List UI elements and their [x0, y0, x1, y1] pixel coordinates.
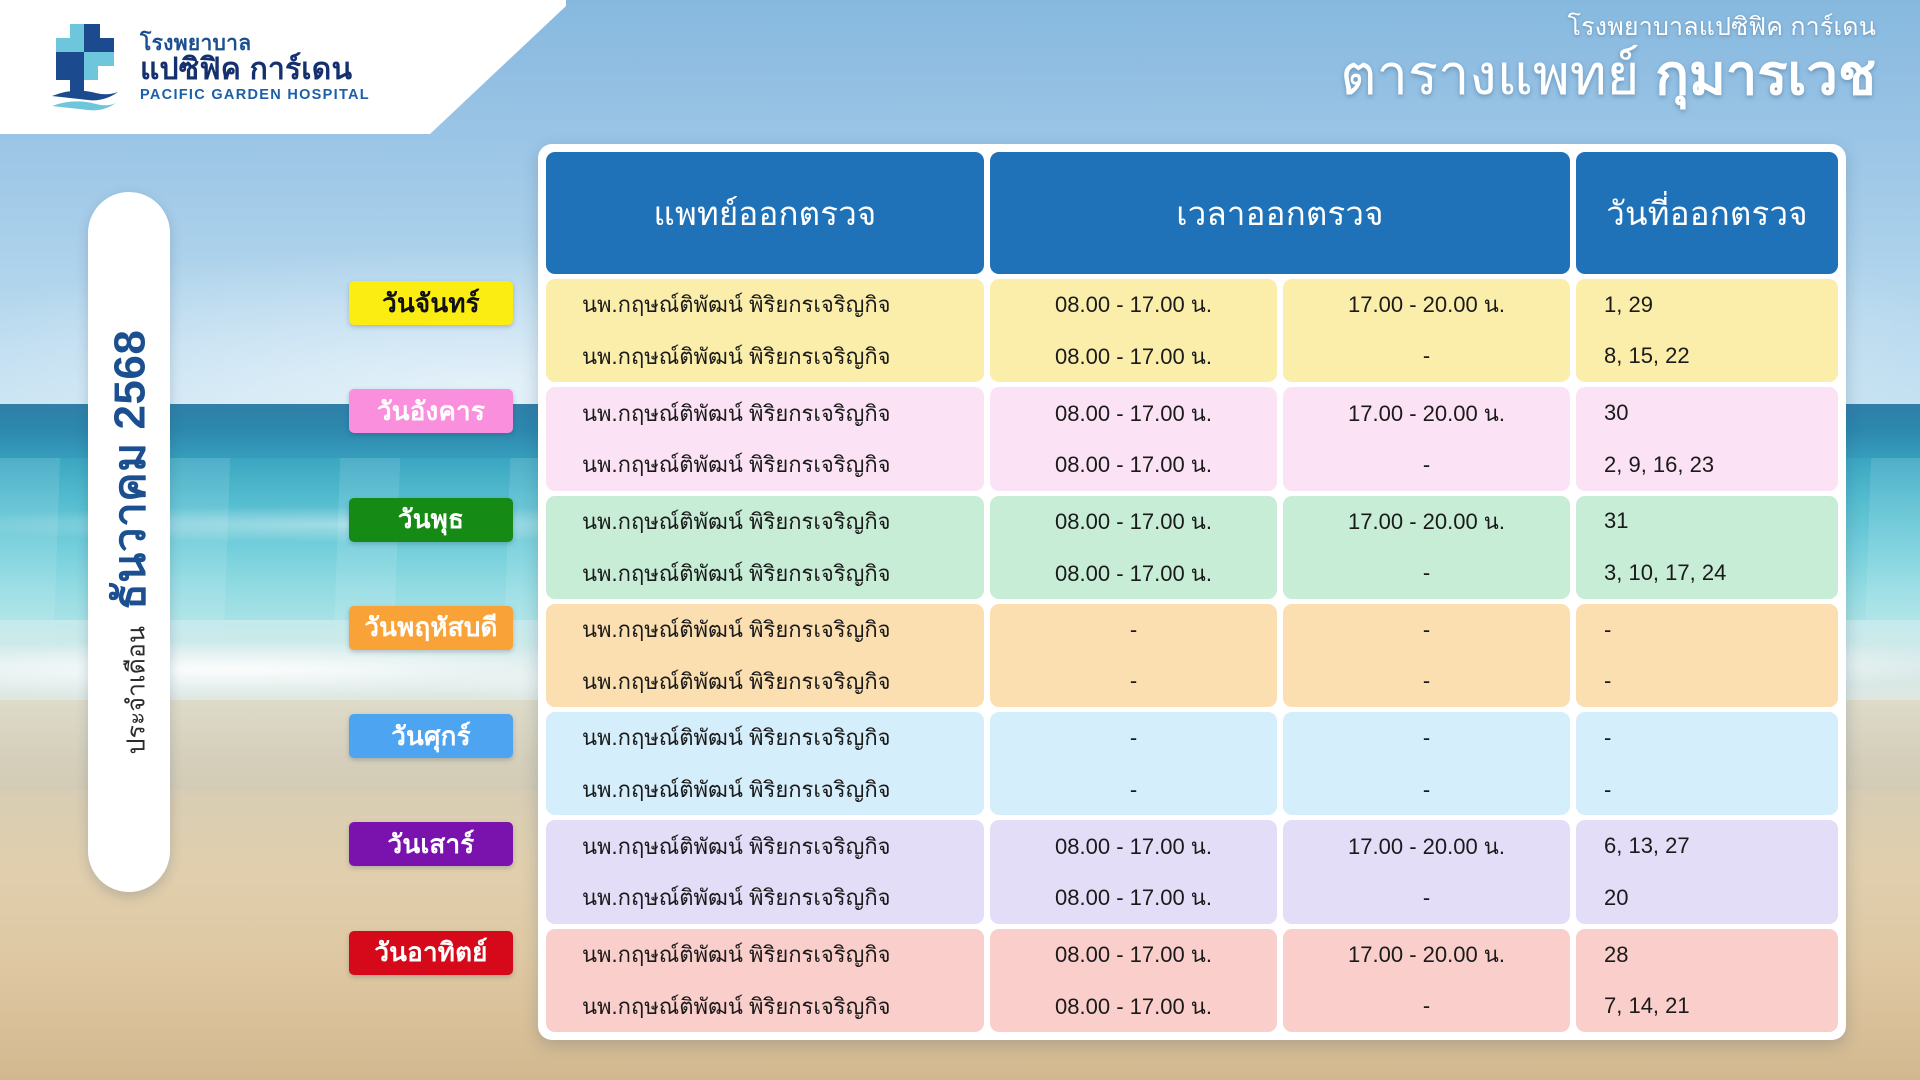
table-cell-date: -	[1576, 655, 1838, 707]
date-cell-group: --	[1576, 712, 1838, 815]
time-evening-cell-group: --	[1283, 712, 1570, 815]
day-chip: วันเสาร์	[349, 822, 513, 866]
time-morning-cell-group: 08.00 - 17.00 น.08.00 - 17.00 น.	[990, 279, 1277, 382]
column-header-date: วันที่ออกตรวจ	[1576, 152, 1838, 274]
table-cell-time1: 08.00 - 17.00 น.	[990, 929, 1277, 981]
table-cell-date: -	[1576, 712, 1838, 764]
cross-logo-icon	[44, 22, 126, 114]
header-title-block: โรงพยาบาลแปซิฟิค การ์เดน ตารางแพทย์ กุมา…	[1340, 12, 1876, 107]
doctor-cell-group: นพ.กฤษณ์ติพัฒน์ พิริยกรเจริญกิจนพ.กฤษณ์ต…	[546, 387, 984, 490]
time-evening-cell-group: 17.00 - 20.00 น.-	[1283, 496, 1570, 599]
day-block: นพ.กฤษณ์ติพัฒน์ พิริยกรเจริญกิจนพ.กฤษณ์ต…	[546, 604, 1838, 707]
day-block: นพ.กฤษณ์ติพัฒน์ พิริยกรเจริญกิจนพ.กฤษณ์ต…	[546, 496, 1838, 599]
table-cell-doctor: นพ.กฤษณ์ติพัฒน์ พิริยกรเจริญกิจ	[546, 764, 984, 816]
time-evening-cell-group: 17.00 - 20.00 น.-	[1283, 279, 1570, 382]
table-cell-time2: -	[1283, 604, 1570, 656]
month-panel-rotated-text: ประจำเดือน ธันวาคม 2568	[94, 330, 164, 755]
table-cell-time2: 17.00 - 20.00 น.	[1283, 929, 1570, 981]
time-morning-cell-group: 08.00 - 17.00 น.08.00 - 17.00 น.	[990, 387, 1277, 490]
table-cell-date: 31	[1576, 496, 1838, 548]
table-cell-time1: -	[990, 655, 1277, 707]
table-cell-doctor: นพ.กฤษณ์ติพัฒน์ พิริยกรเจริญกิจ	[546, 439, 984, 491]
time-evening-cell-group: 17.00 - 20.00 น.-	[1283, 387, 1570, 490]
page-title: ตารางแพทย์ กุมารเวช	[1340, 44, 1876, 107]
date-cell-group: 287, 14, 21	[1576, 929, 1838, 1032]
table-cell-time1: 08.00 - 17.00 น.	[990, 872, 1277, 924]
table-cell-time2: -	[1283, 331, 1570, 383]
page-title-bold: กุมารเวช	[1655, 43, 1876, 106]
logo-line-1: โรงพยาบาล	[140, 33, 370, 54]
time-evening-cell-group: 17.00 - 20.00 น.-	[1283, 820, 1570, 923]
day-block: นพ.กฤษณ์ติพัฒน์ พิริยกรเจริญกิจนพ.กฤษณ์ต…	[546, 387, 1838, 490]
table-body: นพ.กฤษณ์ติพัฒน์ พิริยกรเจริญกิจนพ.กฤษณ์ต…	[546, 274, 1838, 1032]
table-cell-time1: 08.00 - 17.00 น.	[990, 547, 1277, 599]
table-cell-date: 20	[1576, 872, 1838, 924]
doctor-cell-group: นพ.กฤษณ์ติพัฒน์ พิริยกรเจริญกิจนพ.กฤษณ์ต…	[546, 496, 984, 599]
day-chip: วันจันทร์	[349, 281, 513, 325]
table-cell-doctor: นพ.กฤษณ์ติพัฒน์ พิริยกรเจริญกิจ	[546, 604, 984, 656]
table-cell-time1: 08.00 - 17.00 น.	[990, 496, 1277, 548]
table-cell-time2: 17.00 - 20.00 น.	[1283, 496, 1570, 548]
table-cell-date: 1, 29	[1576, 279, 1838, 331]
time-morning-cell-group: --	[990, 604, 1277, 707]
table-cell-date: -	[1576, 764, 1838, 816]
table-cell-time2: 17.00 - 20.00 น.	[1283, 820, 1570, 872]
table-cell-time2: -	[1283, 712, 1570, 764]
date-cell-group: 302, 9, 16, 23	[1576, 387, 1838, 490]
day-block: นพ.กฤษณ์ติพัฒน์ พิริยกรเจริญกิจนพ.กฤษณ์ต…	[546, 929, 1838, 1032]
time-morning-cell-group: --	[990, 712, 1277, 815]
hospital-logo: โรงพยาบาล แปซิฟิค การ์เดน PACIFIC GARDEN…	[44, 22, 370, 114]
table-cell-doctor: นพ.กฤษณ์ติพัฒน์ พิริยกรเจริญกิจ	[546, 387, 984, 439]
table-cell-doctor: นพ.กฤษณ์ติพัฒน์ พิริยกรเจริญกิจ	[546, 496, 984, 548]
day-chip: วันพฤหัสบดี	[349, 606, 513, 650]
table-cell-time1: -	[990, 712, 1277, 764]
table-cell-time2: -	[1283, 872, 1570, 924]
column-header-doctor: แพทย์ออกตรวจ	[546, 152, 984, 274]
table-cell-date: -	[1576, 604, 1838, 656]
table-cell-date: 3, 10, 17, 24	[1576, 547, 1838, 599]
table-cell-date: 28	[1576, 929, 1838, 981]
table-cell-doctor: นพ.กฤษณ์ติพัฒน์ พิริยกรเจริญกิจ	[546, 820, 984, 872]
table-cell-date: 2, 9, 16, 23	[1576, 439, 1838, 491]
page-title-light: ตารางแพทย์	[1340, 43, 1639, 106]
table-cell-doctor: นพ.กฤษณ์ติพัฒน์ พิริยกรเจริญกิจ	[546, 712, 984, 764]
date-cell-group: 313, 10, 17, 24	[1576, 496, 1838, 599]
day-block: นพ.กฤษณ์ติพัฒน์ พิริยกรเจริญกิจนพ.กฤษณ์ต…	[546, 820, 1838, 923]
doctor-cell-group: นพ.กฤษณ์ติพัฒน์ พิริยกรเจริญกิจนพ.กฤษณ์ต…	[546, 820, 984, 923]
date-cell-group: 6, 13, 2720	[1576, 820, 1838, 923]
table-header-row: แพทย์ออกตรวจ เวลาออกตรวจ วันที่ออกตรวจ	[546, 152, 1838, 274]
logo-line-2: แปซิฟิค การ์เดน	[140, 55, 370, 85]
time-evening-cell-group: 17.00 - 20.00 น.-	[1283, 929, 1570, 1032]
table-cell-time1: 08.00 - 17.00 น.	[990, 439, 1277, 491]
table-cell-time1: 08.00 - 17.00 น.	[990, 331, 1277, 383]
table-cell-time2: -	[1283, 764, 1570, 816]
column-header-time: เวลาออกตรวจ	[990, 152, 1570, 274]
time-morning-cell-group: 08.00 - 17.00 น.08.00 - 17.00 น.	[990, 496, 1277, 599]
table-cell-doctor: นพ.กฤษณ์ติพัฒน์ พิริยกรเจริญกิจ	[546, 547, 984, 599]
month-value: ธันวาคม 2568	[94, 330, 164, 610]
logo-line-3: PACIFIC GARDEN HOSPITAL	[140, 88, 370, 103]
time-morning-cell-group: 08.00 - 17.00 น.08.00 - 17.00 น.	[990, 820, 1277, 923]
table-cell-doctor: นพ.กฤษณ์ติพัฒน์ พิริยกรเจริญกิจ	[546, 655, 984, 707]
table-cell-date: 7, 14, 21	[1576, 980, 1838, 1032]
table-cell-doctor: นพ.กฤษณ์ติพัฒน์ พิริยกรเจริญกิจ	[546, 872, 984, 924]
table-cell-time1: 08.00 - 17.00 น.	[990, 820, 1277, 872]
table-cell-date: 8, 15, 22	[1576, 331, 1838, 383]
day-chip: วันอาทิตย์	[349, 931, 513, 975]
doctor-cell-group: นพ.กฤษณ์ติพัฒน์ พิริยกรเจริญกิจนพ.กฤษณ์ต…	[546, 604, 984, 707]
day-block: นพ.กฤษณ์ติพัฒน์ พิริยกรเจริญกิจนพ.กฤษณ์ต…	[546, 279, 1838, 382]
table-cell-time1: 08.00 - 17.00 น.	[990, 279, 1277, 331]
day-block: นพ.กฤษณ์ติพัฒน์ พิริยกรเจริญกิจนพ.กฤษณ์ต…	[546, 712, 1838, 815]
table-cell-doctor: นพ.กฤษณ์ติพัฒน์ พิริยกรเจริญกิจ	[546, 331, 984, 383]
schedule-table: แพทย์ออกตรวจ เวลาออกตรวจ วันที่ออกตรวจ น…	[546, 152, 1838, 1032]
table-cell-time2: -	[1283, 439, 1570, 491]
time-evening-cell-group: --	[1283, 604, 1570, 707]
table-cell-time2: -	[1283, 980, 1570, 1032]
table-cell-time1: 08.00 - 17.00 น.	[990, 980, 1277, 1032]
logo-text-block: โรงพยาบาล แปซิฟิค การ์เดน PACIFIC GARDEN…	[140, 33, 370, 103]
table-cell-doctor: นพ.กฤษณ์ติพัฒน์ พิริยกรเจริญกิจ	[546, 279, 984, 331]
date-cell-group: --	[1576, 604, 1838, 707]
table-cell-date: 30	[1576, 387, 1838, 439]
table-cell-doctor: นพ.กฤษณ์ติพัฒน์ พิริยกรเจริญกิจ	[546, 929, 984, 981]
date-cell-group: 1, 298, 15, 22	[1576, 279, 1838, 382]
doctor-cell-group: นพ.กฤษณ์ติพัฒน์ พิริยกรเจริญกิจนพ.กฤษณ์ต…	[546, 929, 984, 1032]
month-panel: ประจำเดือน ธันวาคม 2568	[88, 192, 170, 892]
hospital-name: โรงพยาบาลแปซิฟิค การ์เดน	[1340, 12, 1876, 42]
time-morning-cell-group: 08.00 - 17.00 น.08.00 - 17.00 น.	[990, 929, 1277, 1032]
table-cell-doctor: นพ.กฤษณ์ติพัฒน์ พิริยกรเจริญกิจ	[546, 980, 984, 1032]
table-cell-time2: 17.00 - 20.00 น.	[1283, 387, 1570, 439]
day-chip: วันอังคาร	[349, 389, 513, 433]
day-chip: วันพุธ	[349, 498, 513, 542]
month-prefix-label: ประจำเดือน	[116, 626, 156, 754]
doctor-cell-group: นพ.กฤษณ์ติพัฒน์ พิริยกรเจริญกิจนพ.กฤษณ์ต…	[546, 279, 984, 382]
schedule-table-frame: แพทย์ออกตรวจ เวลาออกตรวจ วันที่ออกตรวจ น…	[538, 144, 1846, 1040]
table-cell-time2: -	[1283, 547, 1570, 599]
doctor-cell-group: นพ.กฤษณ์ติพัฒน์ พิริยกรเจริญกิจนพ.กฤษณ์ต…	[546, 712, 984, 815]
day-chip: วันศุกร์	[349, 714, 513, 758]
table-cell-time2: 17.00 - 20.00 น.	[1283, 279, 1570, 331]
table-cell-time1: -	[990, 604, 1277, 656]
table-cell-time1: 08.00 - 17.00 น.	[990, 387, 1277, 439]
table-cell-time1: -	[990, 764, 1277, 816]
table-cell-time2: -	[1283, 655, 1570, 707]
table-cell-date: 6, 13, 27	[1576, 820, 1838, 872]
